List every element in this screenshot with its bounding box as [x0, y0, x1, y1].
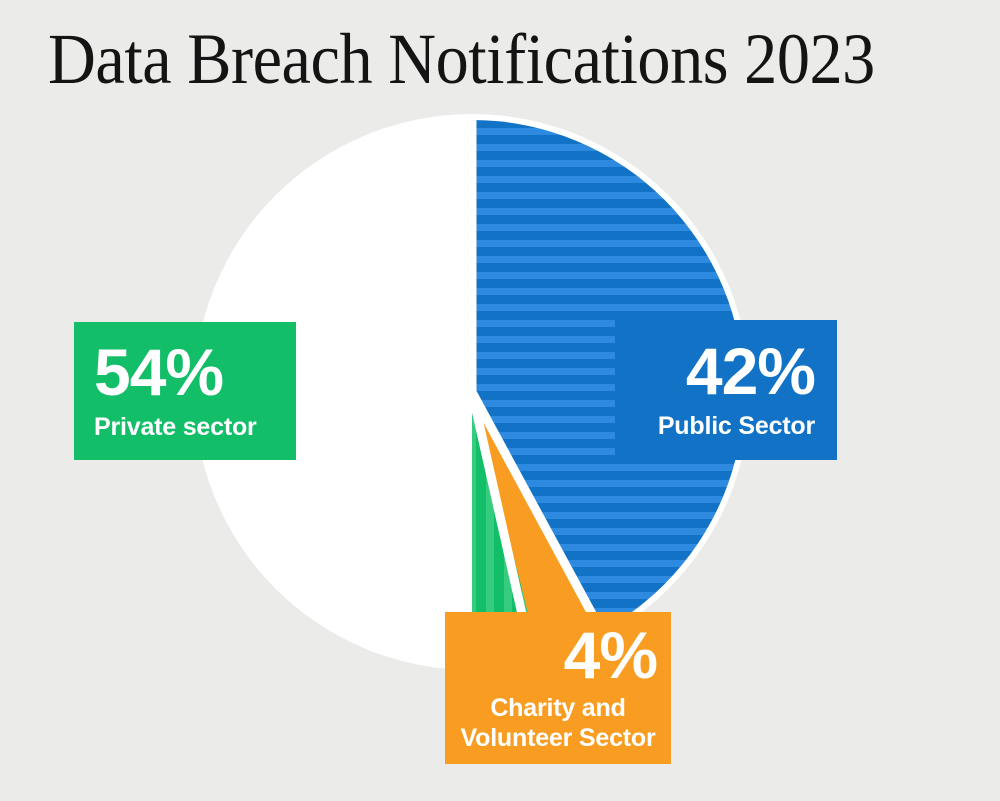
callout-public-sector: 42% Public Sector	[615, 320, 837, 460]
callout-private-label: Private sector	[94, 412, 257, 442]
callout-charity-percent: 4%	[564, 623, 657, 687]
callout-private-percent: 54%	[94, 340, 223, 404]
infographic-canvas: Data Breach Notifications 2023	[0, 0, 1000, 801]
callout-charity-label-line2: Volunteer Sector	[445, 723, 671, 753]
callout-charity-sector: 4% Charity and Volunteer Sector	[445, 612, 671, 764]
callout-public-label: Public Sector	[658, 411, 815, 441]
callout-private-sector: 54% Private sector	[74, 322, 296, 460]
callout-charity-label-line1: Charity and	[445, 693, 671, 723]
callout-public-percent: 42%	[686, 339, 815, 403]
